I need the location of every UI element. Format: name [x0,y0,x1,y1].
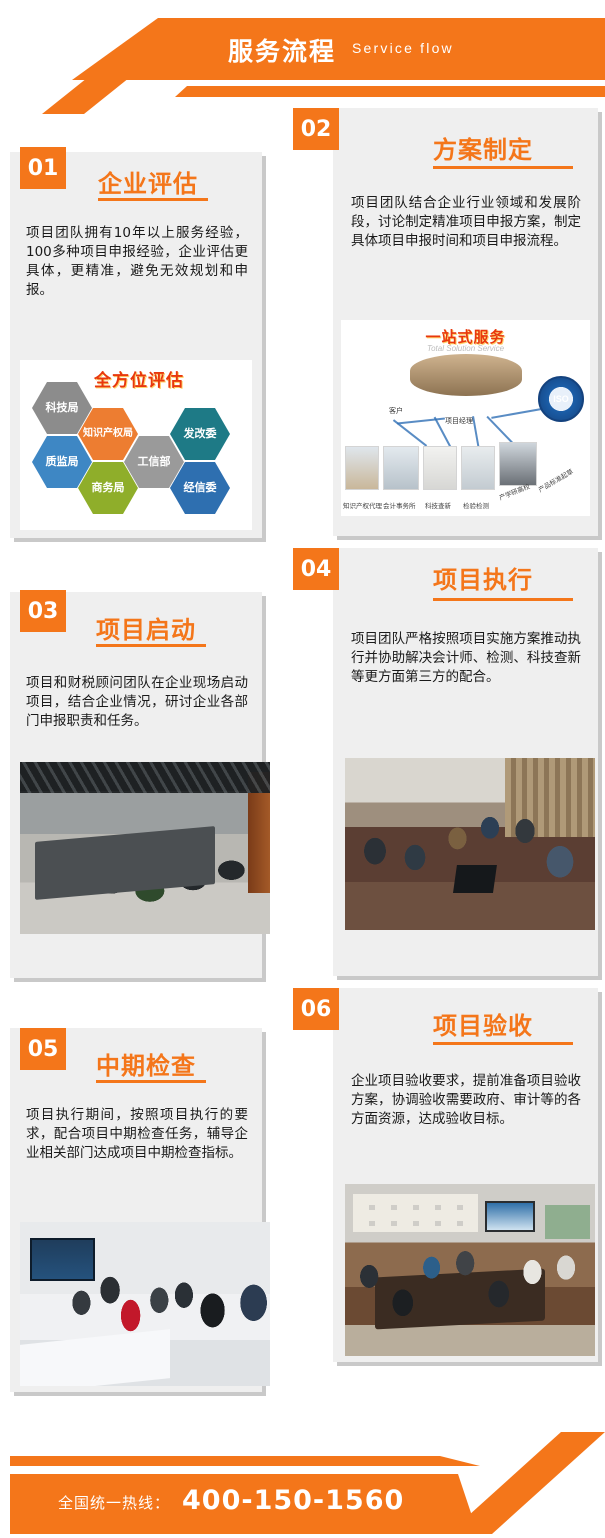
acceptance-meeting-photo [345,1184,595,1356]
one-stop-service-infographic: 一站式服务 Total Solution Service 客户 项目经理 知识产… [341,320,590,516]
attendees [350,1239,590,1349]
service-label-novelty: 科技查新 [425,500,451,510]
service-thumb-1 [345,446,379,490]
card-number-badge: 02 [293,108,339,150]
title-underline [433,166,573,169]
projector-screen [485,1201,535,1232]
hexagon-infographic: 全方位评估 科技局 知识产权局 质监局 商务局 工信部 发改委 经信委 [20,360,252,530]
card-description: 项目执行期间，按照项目执行的要求，配合项目中期检查任务，辅导企业相关部门达成项目… [26,1106,248,1163]
card-title: 项目验收 [433,1006,533,1041]
card-number-badge: 05 [20,1028,66,1070]
service-team-photo [410,354,522,396]
process-card-05: 05 中期检查 项目执行期间，按照项目执行的要求，配合项目中期检查任务，辅导企业… [10,1028,278,1396]
green-board [545,1205,590,1239]
title-underline [433,1042,573,1045]
card-number-badge: 06 [293,988,339,1030]
service-thumb-3 [423,446,457,490]
service-thumb-5 [499,442,537,486]
iso-seal-icon: ISO [538,376,584,422]
card-description: 项目团队结合企业行业领域和发展阶段，讨论制定精准项目申报方案，制定具体项目申报时… [351,194,581,251]
conference-room-photo [20,762,270,934]
card-title: 企业评估 [98,164,198,199]
card-description: 项目和财税顾问团队在企业现场启动项目，结合企业情况，研讨企业各部门申报职责和任务… [26,674,248,731]
working-meeting-photo [345,758,595,930]
service-label-testing: 检验检测 [463,500,489,510]
card-number-badge: 04 [293,548,339,590]
card-number-badge: 01 [20,147,66,189]
card-title: 中期检查 [96,1046,196,1081]
hotline-label: 全国统一热线： [58,1492,170,1513]
service-label-ip-agency: 知识产权代理 [343,500,382,510]
footer-accent-stripe [10,1456,605,1466]
chairs-and-people [25,841,265,927]
service-infographic-subtitle: Total Solution Service [427,344,504,353]
card-title: 项目启动 [96,610,196,645]
page-subtitle: Service flow [352,40,454,56]
service-label-standards: 产品标准起草 [536,466,575,494]
card-title: 项目执行 [433,560,533,595]
process-card-03: 03 项目启动 项目和财税顾问团队在企业现场启动项目，结合企业情况，研讨企业各部… [10,592,278,982]
service-label-accounting: 会计事务所 [383,500,416,510]
process-card-04: 04 项目执行 项目团队严格按照项目实施方案推动执行并协助解决会计师、检测、科技… [293,548,605,980]
infographic-title: 全方位评估 [94,366,184,391]
laptop-detail [453,865,497,893]
title-underline [98,198,208,201]
hotline-number[interactable]: 400-150-1560 [182,1485,404,1516]
card-description: 企业项目验收要求，提前准备项目验收方案，协调验收需要政府、审计等的各方面资源，达… [351,1072,581,1129]
card-number-badge: 03 [20,590,66,632]
wall-certificates [353,1194,478,1232]
title-underline [96,1080,206,1083]
card-description: 项目团队拥有10年以上服务经验，100多种项目申报经验，企业评估更具体，更精准，… [26,224,248,300]
service-thumb-4 [461,446,495,490]
hex-node-fgw: 发改委 [170,408,230,460]
page-header: 服务流程 Service flow [0,0,605,112]
visitor-group [65,1252,270,1380]
page-title: 服务流程 [228,32,336,68]
ceiling-pattern [20,762,270,793]
process-card-01: 01 企业评估 项目团队拥有10年以上服务经验，100多种项目申报经验，企业评估… [10,152,268,542]
site-visit-photo [20,1222,270,1386]
service-arrow-2 [393,419,427,446]
process-card-06: 06 项目验收 企业项目验收要求，提前准备项目验收方案，协调验收需要政府、审计等… [293,988,605,1366]
card-title: 方案制定 [433,130,533,165]
page-footer: 全国统一热线： 400-150-1560 [0,1418,605,1538]
service-arrow-6 [491,407,546,419]
service-arrow-4 [472,416,480,450]
service-node-manager: 项目经理 [445,416,473,426]
title-underline [96,644,206,647]
card-description: 项目团队严格按照项目实施方案推动执行并协助解决会计师、检测、科技查新等更方面第三… [351,630,581,687]
title-underline [433,598,573,601]
service-node-customer: 客户 [389,406,403,416]
service-thumb-2 [383,446,419,490]
process-card-02: 02 方案制定 项目团队结合企业行业领域和发展阶段，讨论制定精准项目申报方案，制… [293,108,605,540]
